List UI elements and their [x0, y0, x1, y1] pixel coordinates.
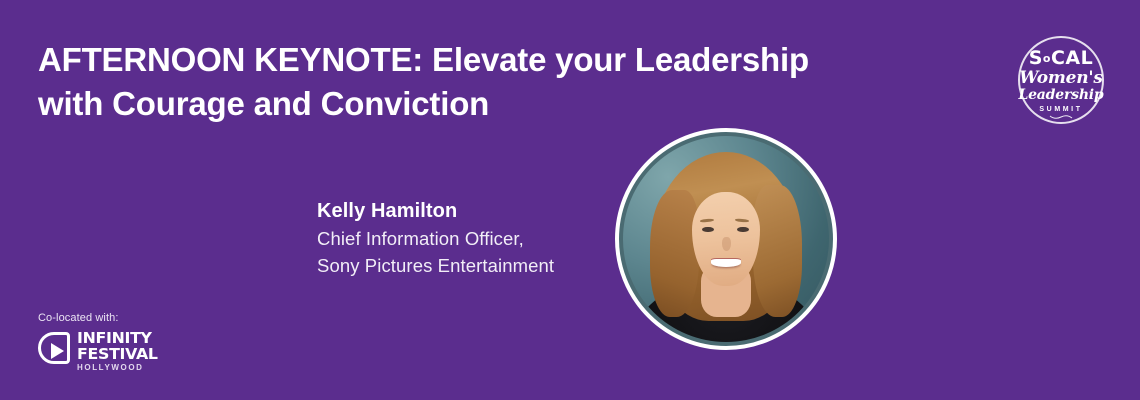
photo-hair-left: [650, 190, 699, 318]
speaker-company: Sony Pictures Entertainment: [317, 252, 607, 279]
co-located-label: Co-located with:: [38, 311, 168, 325]
festival-word: FESTIVAL: [77, 346, 171, 362]
headline-line-2: with Courage and Conviction: [38, 85, 489, 122]
photo-hair-right: [753, 185, 802, 317]
hollywood-word: HOLLYWOOD: [77, 363, 169, 373]
headline-line-1: AFTERNOON KEYNOTE: Elevate your Leadersh…: [38, 41, 809, 78]
keynote-banner: AFTERNOON KEYNOTE: Elevate your Leadersh…: [0, 0, 1140, 400]
speaker-name: Kelly Hamilton: [317, 198, 607, 225]
co-located-block: Co-located with: INFINITY FESTIVAL HOLLY…: [38, 311, 168, 368]
infinity-festival-wordmark: INFINITY FESTIVAL HOLLYWOOD: [77, 330, 169, 373]
speaker-info: Kelly Hamilton Chief Information Officer…: [317, 198, 607, 279]
badge-socal-o: o: [1043, 52, 1051, 65]
speaker-avatar: [615, 128, 837, 350]
play-triangle-icon: [51, 343, 64, 359]
badge-text: SoCAL Women's Leadership SUMMIT: [1016, 32, 1106, 128]
badge-summit-word: SUMMIT: [1016, 105, 1106, 114]
speaker-role: Chief Information Officer,: [317, 225, 607, 252]
page-title: AFTERNOON KEYNOTE: Elevate your Leadersh…: [38, 38, 868, 126]
badge-socal-s: S: [1029, 47, 1043, 69]
badge-socal-wordmark: SoCAL: [1016, 49, 1106, 68]
speaker-photo: [623, 136, 829, 342]
infinity-festival-logo: INFINITY FESTIVAL HOLLYWOOD: [38, 330, 168, 368]
infinity-word: INFINITY: [77, 330, 171, 346]
badge-socal-cal: CAL: [1051, 47, 1093, 69]
badge-leadership-word: Leadership: [1016, 88, 1106, 103]
badge-womens-word: Women's: [1016, 69, 1106, 87]
badge-squiggle-icon: [1049, 114, 1073, 120]
socal-womens-leadership-summit-logo: SoCAL Women's Leadership SUMMIT: [1016, 32, 1106, 128]
photo-eye-right: [737, 227, 749, 232]
play-button-icon: [38, 332, 70, 364]
photo-eye-left: [702, 227, 714, 232]
